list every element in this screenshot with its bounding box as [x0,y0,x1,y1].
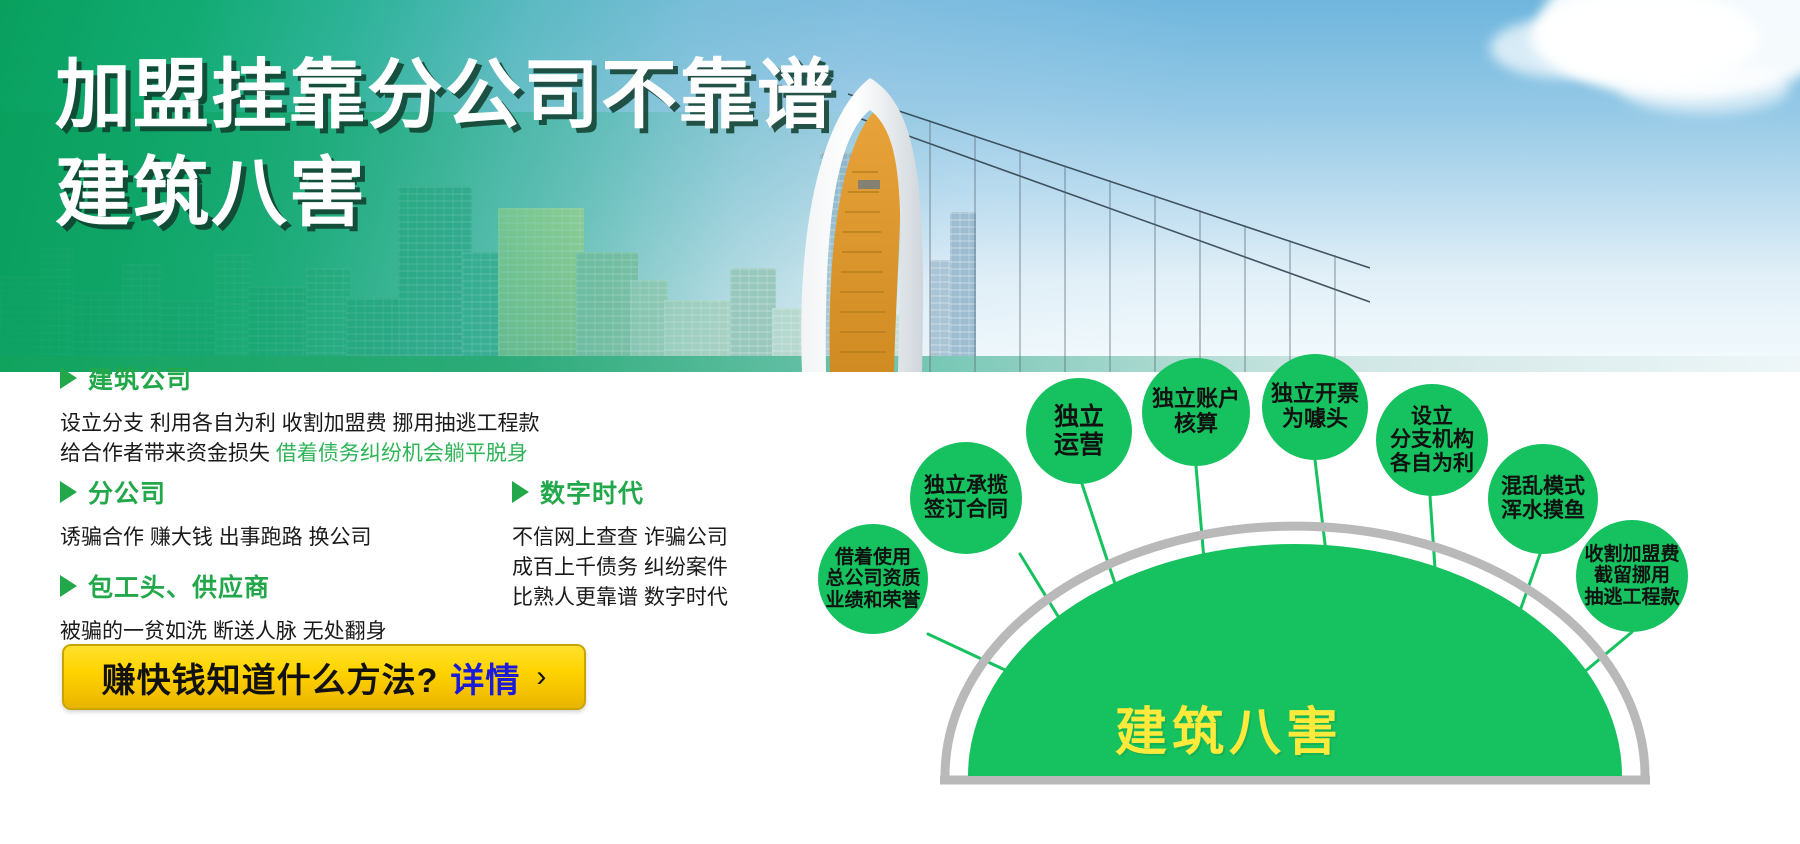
section-title: 分公司 [88,474,166,510]
body-text-black: 给合作者带来资金损失 [60,442,276,465]
hero-banner: 加盟挂靠分公司不靠谱 建筑八害 [0,0,1800,372]
body-line: 成百上千债务 纠纷案件 [512,553,728,583]
body-text-green: 借着债务纠纷机会躺平脱身 [276,442,528,465]
body-line: 设立分支 利用各自为利 收割加盟费 挪用抽逃工程款 [60,409,540,439]
section-body: 设立分支 利用各自为利 收割加盟费 挪用抽逃工程款 给合作者带来资金损失 借着债… [60,409,540,469]
section-header: 包工头、供应商 [60,568,387,604]
triangle-bullet-icon [512,481,529,503]
section-title: 建筑公司 [88,360,192,396]
section-title: 包工头、供应商 [88,568,270,604]
dome-title: 建筑八害 [1115,690,1343,765]
body-text-black: 比熟人更靠谱 数字时代 [512,586,728,609]
chevron-right-icon: › [536,660,546,694]
left-content: 建筑公司 设立分支 利用各自为利 收割加盟费 挪用抽逃工程款 给合作者带来资金损… [0,372,790,844]
body-line: 比熟人更靠谱 数字时代 [512,583,728,613]
bubble-borrowed-qualification[interactable]: 借着使用 总公司资质 业绩和荣誉 [818,524,928,634]
body-text-black: 不信网上查查 诈骗公司 [512,526,728,549]
body-line: 诱骗合作 赚大钱 出事跑路 换公司 [60,523,372,553]
section-contractor-supplier: 包工头、供应商 被骗的一贫如洗 断送人脉 无处翻身 [60,568,387,647]
bubble-franchise-fee[interactable]: 收割加盟费 截留挪用 抽逃工程款 [1576,520,1688,632]
bubble-chaotic-mode[interactable]: 混乱模式 浑水摸鱼 [1488,444,1598,554]
cta-button[interactable]: 赚快钱知道什么方法? 详情 › [62,644,586,710]
body-line: 给合作者带来资金损失 借着债务纠纷机会躺平脱身 [60,439,540,469]
hero-title-line1: 加盟挂靠分公司不靠谱 [55,58,835,134]
body-text-black: 设立分支 利用各自为利 收割加盟费 挪用抽逃工程款 [60,412,540,435]
bubble-diagram: 建筑八害 借着使用 总公司资质 业绩和荣誉 独立承揽 签订合同 独立 运营 独立… [790,372,1800,844]
section-body: 不信网上查查 诈骗公司 成百上千债务 纠纷案件 比熟人更靠谱 数字时代 [512,523,728,612]
hero-title-line2: 建筑八害 [55,156,835,232]
poster-root: 加盟挂靠分公司不靠谱 建筑八害 建筑公司 设立分支 利用各自为利 收割加盟费 挪… [0,0,1800,844]
section-header: 分公司 [60,474,372,510]
section-branch-company: 分公司 诱骗合作 赚大钱 出事跑路 换公司 [60,474,372,553]
triangle-bullet-icon [60,481,77,503]
hero-title-group: 加盟挂靠分公司不靠谱 建筑八害 [55,58,835,232]
cloud-icon [1490,18,1640,78]
body-line: 被骗的一贫如洗 断送人脉 无处翻身 [60,617,387,647]
section-digital-era: 数字时代 不信网上查查 诈骗公司 成百上千债务 纠纷案件 比熟人更靠谱 数字时代 [512,474,728,612]
section-body: 被骗的一贫如洗 断送人脉 无处翻身 [60,617,387,647]
body-text-black: 成百上千债务 纠纷案件 [512,556,728,579]
cta-main-label: 赚快钱知道什么方法? [102,653,439,702]
bubble-independent-invoice[interactable]: 独立开票 为噱头 [1262,354,1368,460]
section-title: 数字时代 [540,474,644,510]
bubble-independent-operation[interactable]: 独立 运营 [1026,378,1132,484]
body-text-black: 被骗的一贫如洗 断送人脉 无处翻身 [60,620,387,643]
bubble-independent-account[interactable]: 独立账户 核算 [1142,358,1250,466]
triangle-bullet-icon [60,575,77,597]
cta-details-link[interactable]: 详情 [450,653,520,702]
section-header: 数字时代 [512,474,728,510]
bubble-branch-setup[interactable]: 设立 分支机构 各自为利 [1376,384,1488,496]
section-construction-company: 建筑公司 设立分支 利用各自为利 收割加盟费 挪用抽逃工程款 给合作者带来资金损… [60,360,540,469]
section-body: 诱骗合作 赚大钱 出事跑路 换公司 [60,523,372,553]
cloud-icon [1620,62,1790,114]
section-header: 建筑公司 [60,360,540,396]
bubble-independent-contract[interactable]: 独立承揽 签订合同 [910,442,1022,554]
body-line: 不信网上查查 诈骗公司 [512,523,728,553]
triangle-bullet-icon [60,367,77,389]
body-text-black: 诱骗合作 赚大钱 出事跑路 换公司 [60,526,372,549]
